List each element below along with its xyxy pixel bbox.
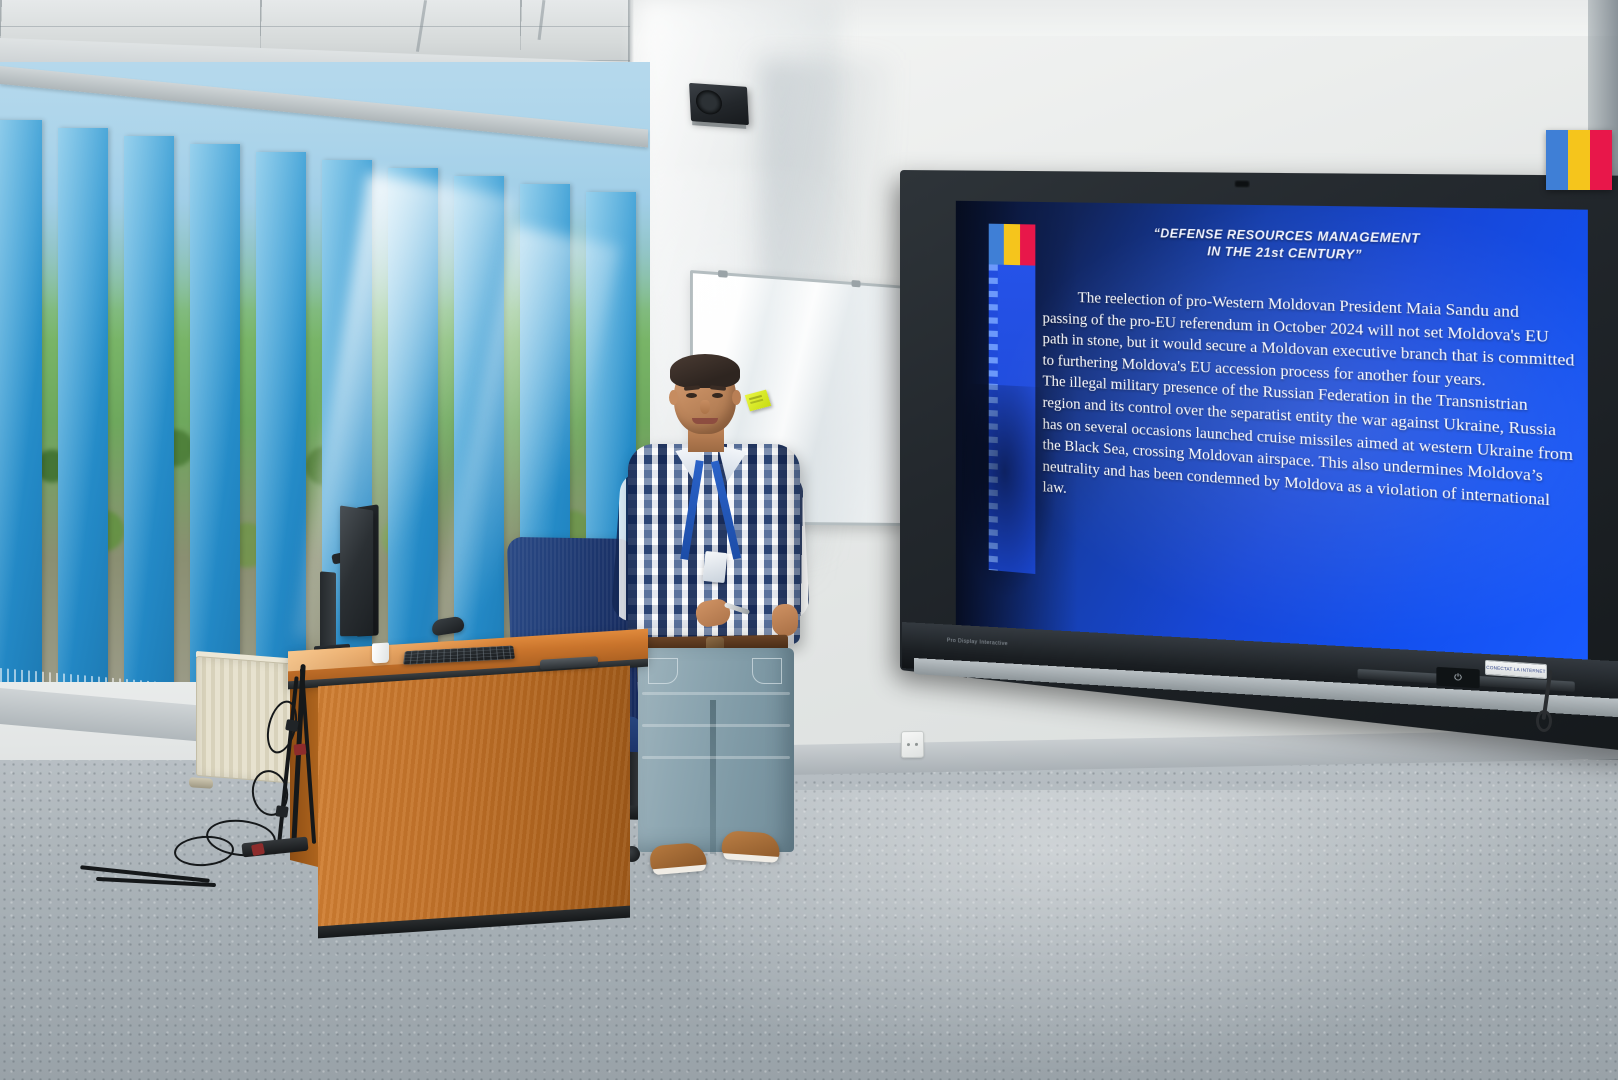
nose	[700, 400, 710, 414]
blind-slat[interactable]	[388, 168, 438, 682]
radiator-valve[interactable]	[189, 777, 213, 789]
desk-wood-grain	[318, 666, 630, 933]
whiteboard-bracket	[852, 280, 861, 287]
blind-slat[interactable]	[58, 128, 108, 682]
mouth	[692, 418, 718, 424]
shoe	[649, 842, 707, 873]
presenter	[612, 352, 812, 902]
ear	[732, 390, 741, 405]
interactive-display[interactable]: “DEFENSE RESOURCES MANAGEMENT IN THE 21s…	[900, 170, 1572, 690]
slide-title: “DEFENSE RESOURCES MANAGEMENT IN THE 21s…	[1078, 225, 1507, 268]
whiteboard-bracket	[718, 270, 728, 278]
plug	[285, 719, 299, 732]
cup[interactable]	[372, 643, 389, 664]
power-outlet-icon[interactable]	[901, 731, 924, 758]
blind-slat[interactable]	[454, 176, 504, 682]
display-brand-label: Pro Display Interactive	[947, 638, 1008, 648]
speaker-grille-icon	[695, 89, 722, 115]
right-hand	[772, 604, 798, 636]
id-badge	[702, 551, 727, 583]
hair	[670, 354, 740, 388]
jeans-fold	[642, 756, 790, 759]
ear	[669, 390, 678, 405]
plug	[275, 805, 288, 818]
display-cable-coil	[1536, 710, 1552, 732]
slide-body: The reelection of pro-Western Moldovan P…	[1043, 286, 1577, 537]
blind-slat[interactable]	[190, 144, 240, 682]
display-screen[interactable]: “DEFENSE RESOURCES MANAGEMENT IN THE 21s…	[956, 201, 1588, 699]
plug	[293, 743, 306, 755]
floor-light-reflection	[700, 790, 1600, 1080]
ceiling-speaker-icon	[689, 83, 749, 125]
blind-slat[interactable]	[124, 136, 174, 682]
classroom-photo: “DEFENSE RESOURCES MANAGEMENT IN THE 21s…	[0, 0, 1618, 1080]
slide-paragraph-2: The illegal military presence of the Rus…	[1043, 371, 1577, 538]
jeans-pocket	[752, 658, 782, 684]
monitor-stand	[320, 571, 336, 650]
blind-slat[interactable]	[256, 152, 306, 682]
camera-icon	[1234, 180, 1250, 188]
power-button[interactable]: ⏻	[1436, 667, 1479, 689]
jeans-pocket	[648, 658, 678, 684]
romanian-flag-right-icon	[1546, 130, 1612, 190]
slide-side-ticks	[989, 264, 998, 570]
blind-slat[interactable]	[0, 120, 42, 682]
eye	[712, 393, 723, 398]
romanian-flag-left-icon	[989, 224, 1036, 266]
jeans-fold	[642, 692, 790, 695]
monitor[interactable]	[340, 505, 373, 636]
jeans-fold	[642, 724, 790, 727]
eye	[686, 393, 697, 398]
